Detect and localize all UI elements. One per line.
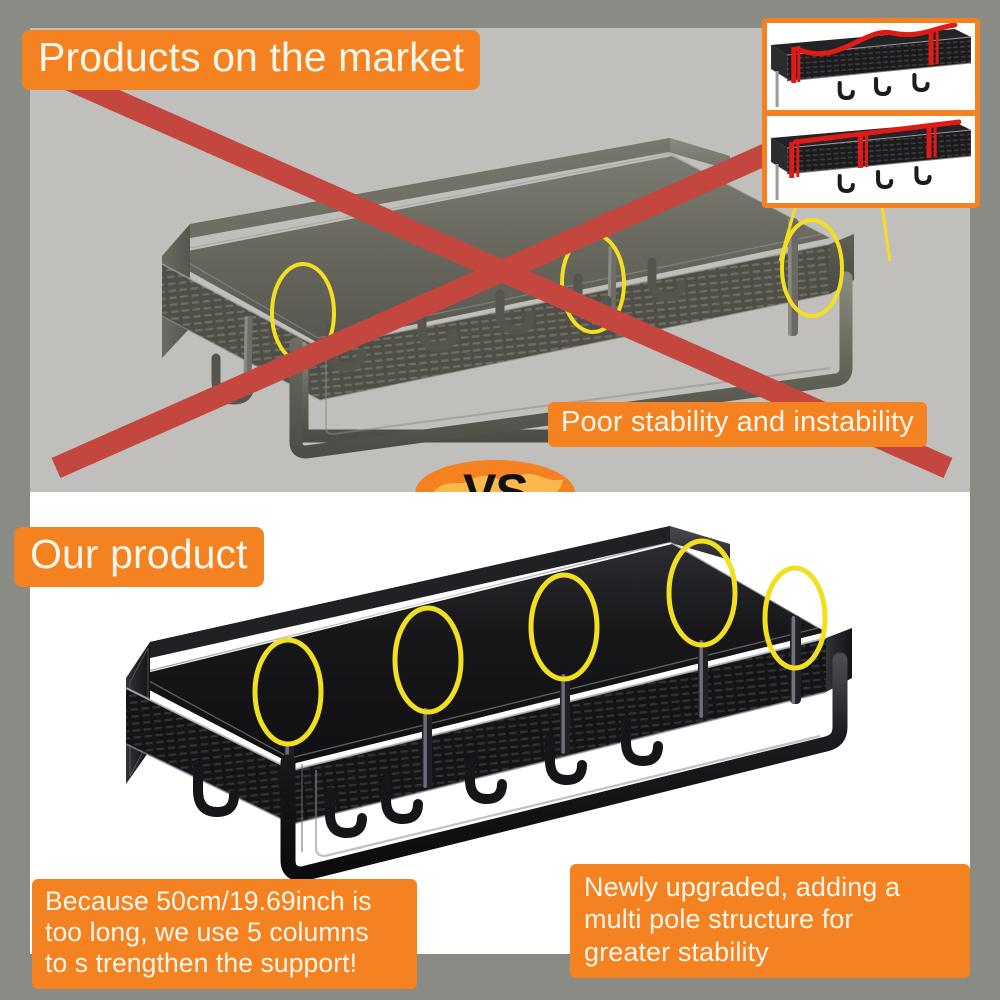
detail-inset-group	[762, 18, 980, 208]
newly-upgraded-caption: Newly upgraded, adding a multi pole stru…	[570, 864, 970, 978]
five-columns-caption: Because 50cm/19.69inch is too long, we u…	[32, 879, 417, 989]
poor-stability-caption: Poor stability and instability	[548, 402, 927, 447]
infographic-canvas: Products on the market Poor stability an…	[0, 0, 1000, 1000]
bottom-section-title: Our product	[14, 527, 264, 587]
inset-connector-lines	[762, 205, 980, 265]
top-section-title: Products on the market	[22, 30, 480, 90]
straight-shelf-thumbnail	[767, 116, 975, 203]
sagging-shelf-thumbnail	[767, 23, 975, 110]
